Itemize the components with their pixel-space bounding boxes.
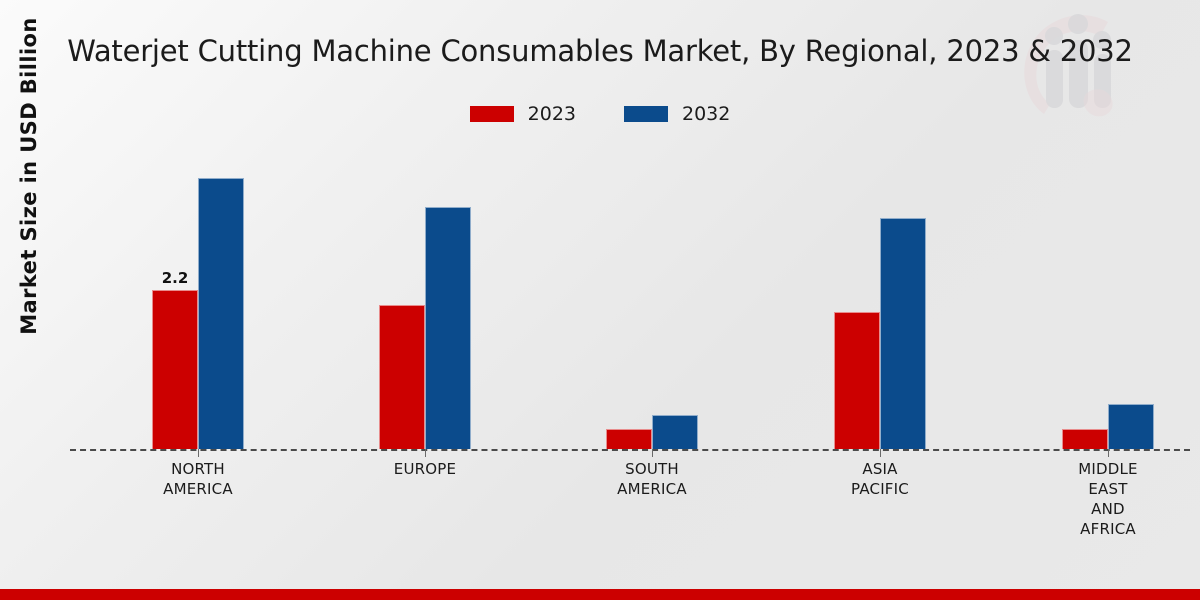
legend-swatch-2032 xyxy=(624,106,668,122)
x-axis-label-line: AMERICA xyxy=(557,479,747,499)
bar-pair xyxy=(834,139,926,449)
y-axis-title: Market Size in USD Billion xyxy=(17,11,41,341)
bottom-accent-band xyxy=(0,589,1200,600)
bar-2023-south-america[interactable] xyxy=(606,429,652,449)
x-axis-tick xyxy=(425,449,426,457)
x-axis-label-asia-pacific: ASIAPACIFIC xyxy=(785,459,975,499)
bar-2032-europe[interactable] xyxy=(425,207,471,449)
x-axis-label-line: PACIFIC xyxy=(785,479,975,499)
x-axis-tick xyxy=(1108,449,1109,457)
bar-2032-north-america[interactable] xyxy=(198,178,244,449)
bar-2032-middle-east-and-africa[interactable] xyxy=(1108,404,1154,449)
x-axis-label-line: MIDDLE xyxy=(1013,459,1200,479)
bar-2023-asia-pacific[interactable] xyxy=(834,312,880,449)
bar-pair xyxy=(152,139,244,449)
bar-2023-europe[interactable] xyxy=(379,305,425,449)
x-axis-label-line: SOUTH xyxy=(557,459,747,479)
legend-label-2032: 2032 xyxy=(682,103,730,125)
bar-pair xyxy=(606,139,698,449)
x-axis-label-europe: EUROPE xyxy=(330,459,520,479)
bar-chart-figure: Waterjet Cutting Machine Consumables Mar… xyxy=(0,0,1200,600)
legend-item-2023[interactable]: 2023 xyxy=(470,103,576,125)
bar-group: 2.2NORTHAMERICA xyxy=(152,139,244,449)
x-axis-label-north-america: NORTHAMERICA xyxy=(103,459,293,499)
bar-2032-asia-pacific[interactable] xyxy=(880,218,926,449)
x-axis-baseline xyxy=(70,449,1190,451)
x-axis-label-line: ASIA xyxy=(785,459,975,479)
chart-title: Waterjet Cutting Machine Consumables Mar… xyxy=(0,34,1200,68)
bar-2023-north-america[interactable] xyxy=(152,290,198,449)
chart-legend: 2023 2032 xyxy=(0,103,1200,125)
x-axis-label-line: AMERICA xyxy=(103,479,293,499)
x-axis-tick xyxy=(652,449,653,457)
x-axis-label-line: EUROPE xyxy=(330,459,520,479)
bar-2023-middle-east-and-africa[interactable] xyxy=(1062,429,1108,449)
bar-pair xyxy=(1062,139,1154,449)
legend-swatch-2023 xyxy=(470,106,514,122)
x-axis-label-middle-east-and-africa: MIDDLEEASTANDAFRICA xyxy=(1013,459,1200,539)
bar-2032-south-america[interactable] xyxy=(652,415,698,449)
x-axis-label-line: EAST xyxy=(1013,479,1200,499)
bar-pair xyxy=(379,139,471,449)
bar-group: SOUTHAMERICA xyxy=(606,139,698,449)
x-axis-label-line: AND xyxy=(1013,499,1200,519)
legend-label-2023: 2023 xyxy=(528,103,576,125)
x-axis-label-line: NORTH xyxy=(103,459,293,479)
bar-group: MIDDLEEASTANDAFRICA xyxy=(1062,139,1154,449)
x-axis-label-line: AFRICA xyxy=(1013,519,1200,539)
plot-area: 2.2NORTHAMERICAEUROPESOUTHAMERICAASIAPAC… xyxy=(40,140,1190,450)
x-axis-tick xyxy=(880,449,881,457)
bar-group: EUROPE xyxy=(379,139,471,449)
legend-item-2032[interactable]: 2032 xyxy=(624,103,730,125)
x-axis-label-south-america: SOUTHAMERICA xyxy=(557,459,747,499)
x-axis-tick xyxy=(198,449,199,457)
bar-group: ASIAPACIFIC xyxy=(834,139,926,449)
